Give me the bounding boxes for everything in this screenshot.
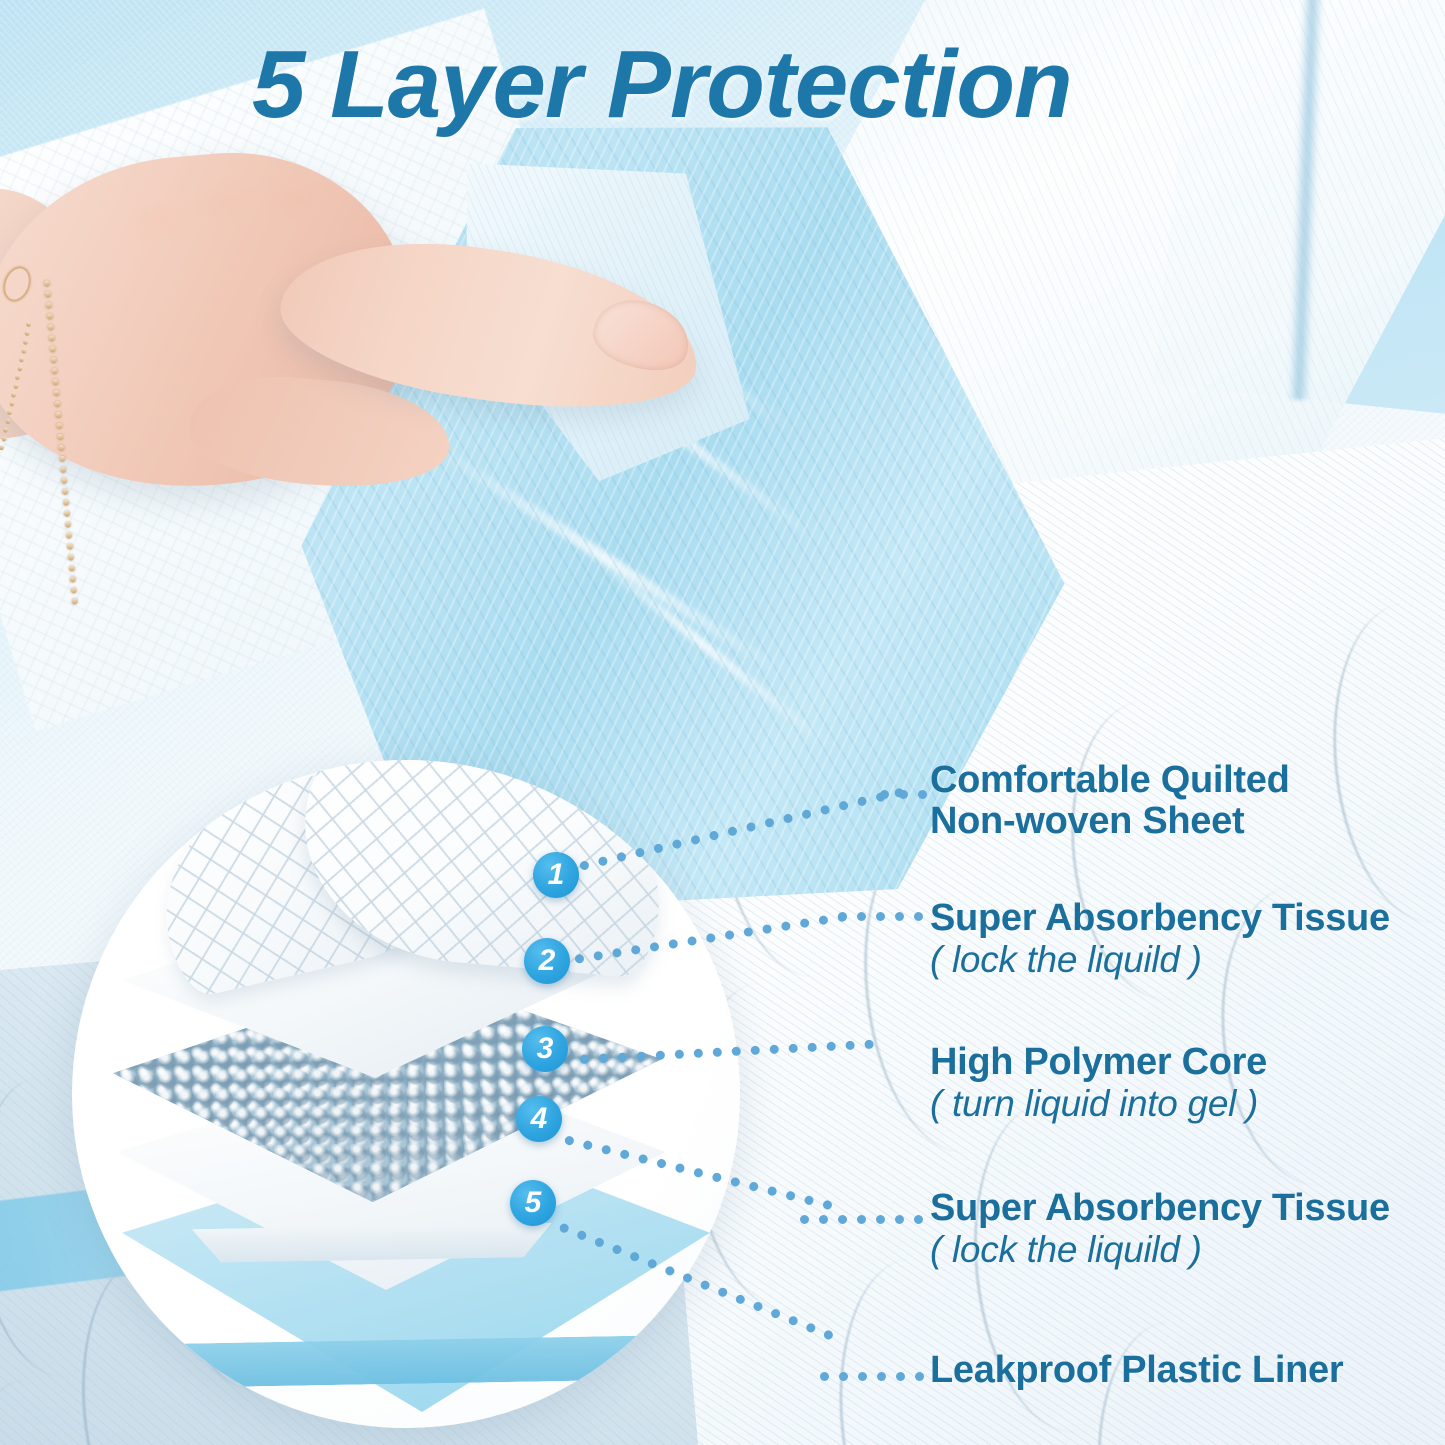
layer-badge-1[interactable]: 1: [533, 852, 579, 898]
infographic-canvas: 5 Layer Protection: [0, 0, 1445, 1445]
layer-label-3-line1: High Polymer Core: [930, 1042, 1430, 1083]
layer-label-2-line1: Super Absorbency Tissue: [930, 898, 1430, 939]
connector-dots-layer-5-tail: [820, 1372, 940, 1381]
layer-label-1: Comfortable Quilted Non-woven Sheet: [930, 760, 1430, 842]
layer-label-4-line1: Super Absorbency Tissue: [930, 1188, 1430, 1229]
layer-badge-2-number: 2: [539, 946, 556, 976]
layer-label-2: Super Absorbency Tissue ( lock the liqui…: [930, 898, 1430, 980]
layer-labels-list: Comfortable Quilted Non-woven Sheet Supe…: [930, 0, 1430, 1445]
layer-4-edge: [192, 1223, 553, 1263]
layer-5-edge: [132, 1335, 653, 1388]
layer-badge-4-number: 4: [531, 1104, 548, 1134]
layer-label-5: Leakproof Plastic Liner: [930, 1350, 1430, 1391]
layer-label-4-note: ( lock the liquild ): [930, 1229, 1430, 1270]
layer-label-3-note: ( turn liquid into gel ): [930, 1083, 1430, 1124]
layer-badge-3[interactable]: 3: [522, 1026, 568, 1072]
hand-holding-pad: [0, 130, 780, 610]
layer-label-5-line1: Leakproof Plastic Liner: [930, 1350, 1430, 1391]
layer-label-1-line1: Comfortable Quilted: [930, 760, 1430, 801]
layer-badge-3-number: 3: [537, 1034, 554, 1064]
connector-dots-layer-2-tail: [838, 912, 938, 921]
layer-label-1-line2: Non-woven Sheet: [930, 801, 1430, 842]
layer-stack-inset: [72, 760, 740, 1428]
layer-badge-1-number: 1: [548, 860, 565, 890]
layer-label-3: High Polymer Core ( turn liquid into gel…: [930, 1042, 1430, 1124]
layer-label-2-note: ( lock the liquild ): [930, 939, 1430, 980]
layer-badge-5-number: 5: [525, 1188, 542, 1218]
connector-dots-layer-4-tail: [800, 1215, 940, 1224]
layer-badge-4[interactable]: 4: [516, 1096, 562, 1142]
layer-badge-5[interactable]: 5: [510, 1180, 556, 1226]
layer-badge-2[interactable]: 2: [524, 938, 570, 984]
layer-label-4: Super Absorbency Tissue ( lock the liqui…: [930, 1188, 1430, 1270]
